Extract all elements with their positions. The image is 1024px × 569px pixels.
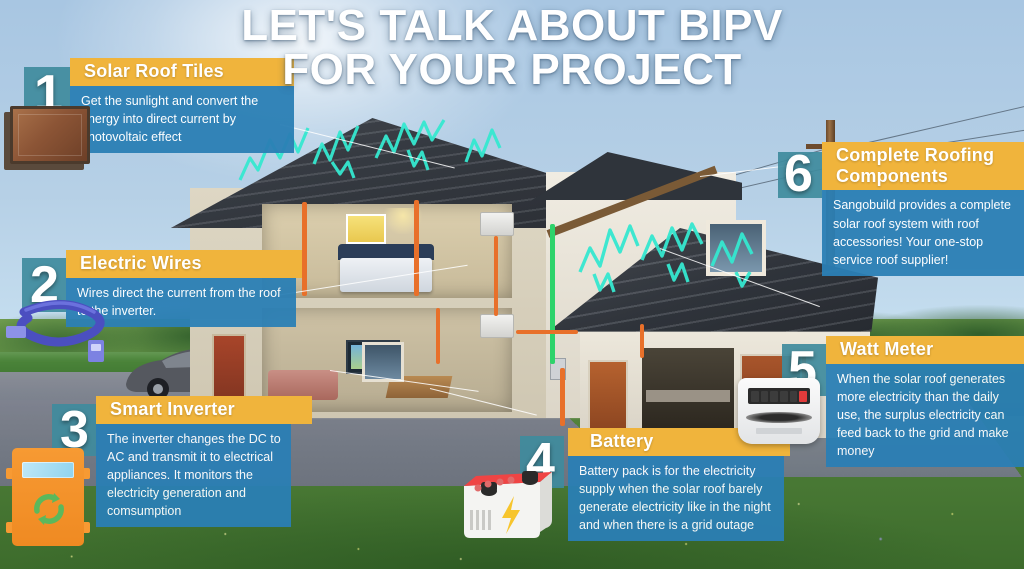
meter-digit-display — [748, 388, 810, 404]
callout-heading-6: Complete Roofing Components — [822, 142, 1024, 190]
conduit-orange — [494, 236, 498, 316]
callout-heading-3: Smart Inverter — [96, 396, 312, 424]
conduit-orange — [640, 324, 644, 358]
callout-body-3: The inverter changes the DC to AC and tr… — [96, 424, 291, 528]
side-door — [588, 360, 628, 436]
callout-heading-5: Watt Meter — [826, 336, 1024, 364]
ac-unit-upper — [480, 212, 514, 236]
watt-meter-icon — [738, 378, 820, 444]
callout-complete-roofing-components[interactable]: 6 Complete Roofing Components Sangobuild… — [778, 142, 1024, 276]
conduit-orange — [560, 368, 565, 426]
wall-art — [346, 214, 386, 244]
recycle-arrows-icon — [30, 490, 68, 528]
callout-body-1: Get the sunlight and convert the energy … — [70, 86, 294, 153]
callout-body-5: When the solar roof generates more elect… — [826, 364, 1024, 468]
conduit-orange — [414, 200, 419, 296]
callout-battery[interactable]: 4 Battery Battery pack is for the electr… — [520, 428, 790, 541]
coiled-cable-icon — [2, 288, 122, 368]
infographic-canvas: LET'S TALK ABOUT BIPV FOR YOUR PROJECT 1… — [0, 0, 1024, 569]
callout-smart-inverter[interactable]: 3 Smart Inverter The inverter changes th… — [52, 396, 312, 527]
conduit-green — [550, 224, 555, 364]
callout-body-4: Battery pack is for the electricity supp… — [568, 456, 784, 542]
conduit-orange — [436, 308, 440, 364]
meter-dial — [746, 412, 812, 423]
title-line-1: LET'S TALK ABOUT BIPV — [241, 1, 783, 50]
title-line-2: FOR YOUR PROJECT — [0, 48, 1024, 92]
ac-unit-lower — [480, 314, 514, 338]
conduit-orange — [302, 202, 307, 296]
battery-icon — [456, 458, 560, 544]
page-title: LET'S TALK ABOUT BIPV FOR YOUR PROJECT — [0, 4, 1024, 92]
meter-label-bar — [756, 428, 802, 434]
callout-body-6: Sangobuild provides a complete solar roo… — [822, 190, 1024, 276]
conduit-orange — [516, 330, 578, 334]
callout-heading-2: Electric Wires — [66, 250, 302, 278]
callout-number-6: 6 — [784, 148, 812, 200]
inverter-icon — [6, 448, 90, 546]
solar-roof-tile-icon — [4, 106, 90, 172]
garage-counter — [646, 390, 730, 402]
